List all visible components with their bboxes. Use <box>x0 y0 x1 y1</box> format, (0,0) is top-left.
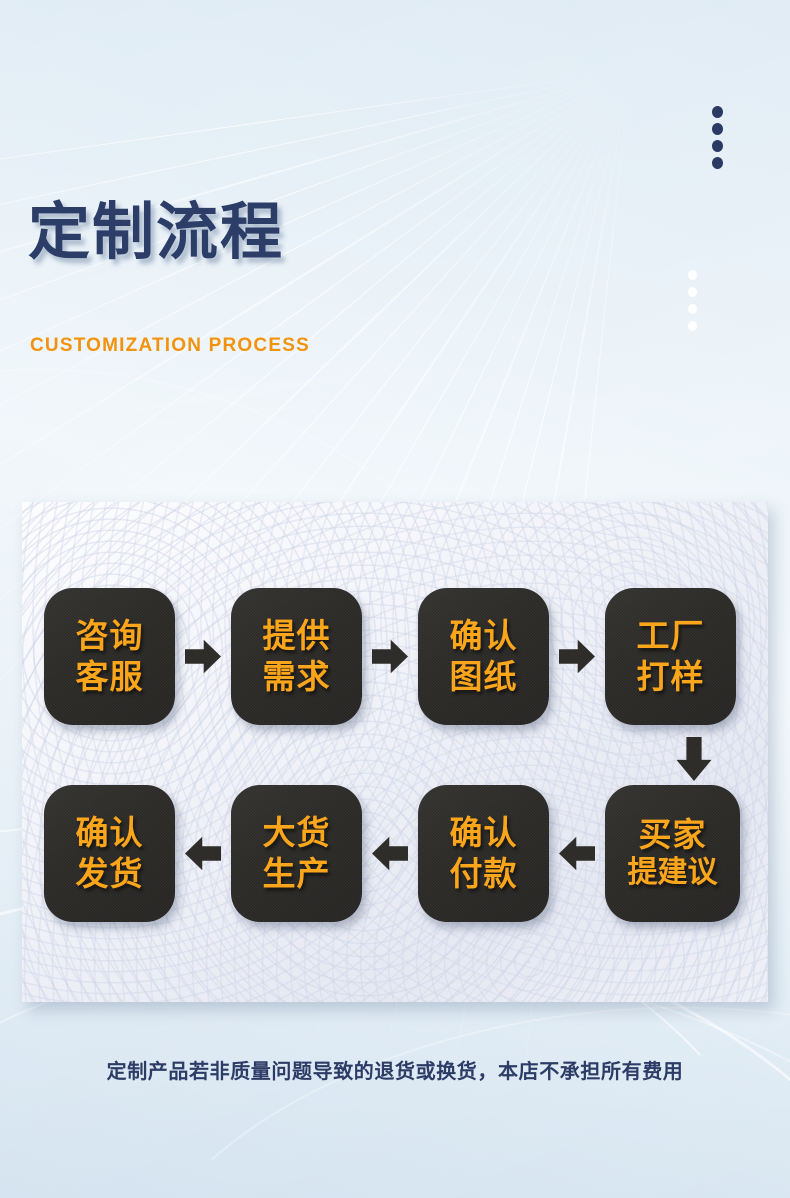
step-label-line2: 付款 <box>450 854 518 894</box>
process-flow-row-1: 咨询 客服 提供 需求 确认 图纸 工厂 打样 <box>44 588 736 725</box>
dot-icon <box>688 321 697 331</box>
arrow-left-icon <box>175 832 231 876</box>
step-label-line2: 需求 <box>263 657 331 697</box>
arrow-right-icon <box>549 635 605 679</box>
step-label-line1: 工厂 <box>637 616 705 656</box>
dot-icon <box>688 287 697 297</box>
customization-process-page: 定制流程 CUSTOMIZATION PROCESS 咨询 客服 提供 需求 确 <box>0 0 790 1198</box>
process-step-provide-requirements[interactable]: 提供 需求 <box>231 588 362 725</box>
step-label-line2: 生产 <box>263 854 331 894</box>
light-band-2 <box>0 388 438 453</box>
arrow-down-icon <box>675 737 713 781</box>
light-band-3 <box>0 435 419 477</box>
step-label-line1: 买家 <box>639 815 707 855</box>
light-dots-decoration <box>688 270 697 338</box>
step-label-line1: 确认 <box>450 616 518 656</box>
step-label-line1: 提供 <box>263 616 331 656</box>
step-label-line2: 发货 <box>76 854 144 894</box>
process-flow-row-2: 确认 发货 大货 生产 确认 付款 买家 提建议 <box>44 785 740 922</box>
step-label-line2: 打样 <box>637 657 705 697</box>
dark-dots-decoration <box>712 106 723 174</box>
light-band-1 <box>0 351 497 442</box>
process-flow-panel: 咨询 客服 提供 需求 确认 图纸 工厂 打样 确认 发货 <box>22 502 768 1002</box>
process-step-factory-sample[interactable]: 工厂 打样 <box>605 588 736 725</box>
step-label-line1: 咨询 <box>76 616 144 656</box>
arrow-left-icon <box>549 832 605 876</box>
page-subtitle: CUSTOMIZATION PROCESS <box>30 335 310 357</box>
process-step-confirm-shipment[interactable]: 确认 发货 <box>44 785 175 922</box>
dot-icon <box>688 270 697 280</box>
process-step-buyer-suggestions[interactable]: 买家 提建议 <box>605 785 740 922</box>
dot-icon <box>688 304 697 314</box>
dot-icon <box>712 123 723 135</box>
step-label-line1: 大货 <box>263 813 331 853</box>
page-title: 定制流程 <box>28 202 284 264</box>
dot-icon <box>712 106 723 118</box>
arrow-left-icon <box>362 832 418 876</box>
process-step-confirm-drawings[interactable]: 确认 图纸 <box>418 588 549 725</box>
process-step-consult-service[interactable]: 咨询 客服 <box>44 588 175 725</box>
dot-icon <box>712 157 723 169</box>
step-label-line2: 图纸 <box>450 657 518 697</box>
arrow-right-icon <box>175 635 231 679</box>
arrow-right-icon <box>362 635 418 679</box>
footer-disclaimer: 定制产品若非质量问题导致的退货或换货，本店不承担所有费用 <box>0 1055 790 1084</box>
step-label-line2: 客服 <box>76 657 144 697</box>
dot-icon <box>712 140 723 152</box>
process-step-bulk-production[interactable]: 大货 生产 <box>231 785 362 922</box>
step-label-line2: 提建议 <box>628 855 718 892</box>
step-label-line1: 确认 <box>76 813 144 853</box>
step-label-line1: 确认 <box>450 813 518 853</box>
process-step-confirm-payment[interactable]: 确认 付款 <box>418 785 549 922</box>
